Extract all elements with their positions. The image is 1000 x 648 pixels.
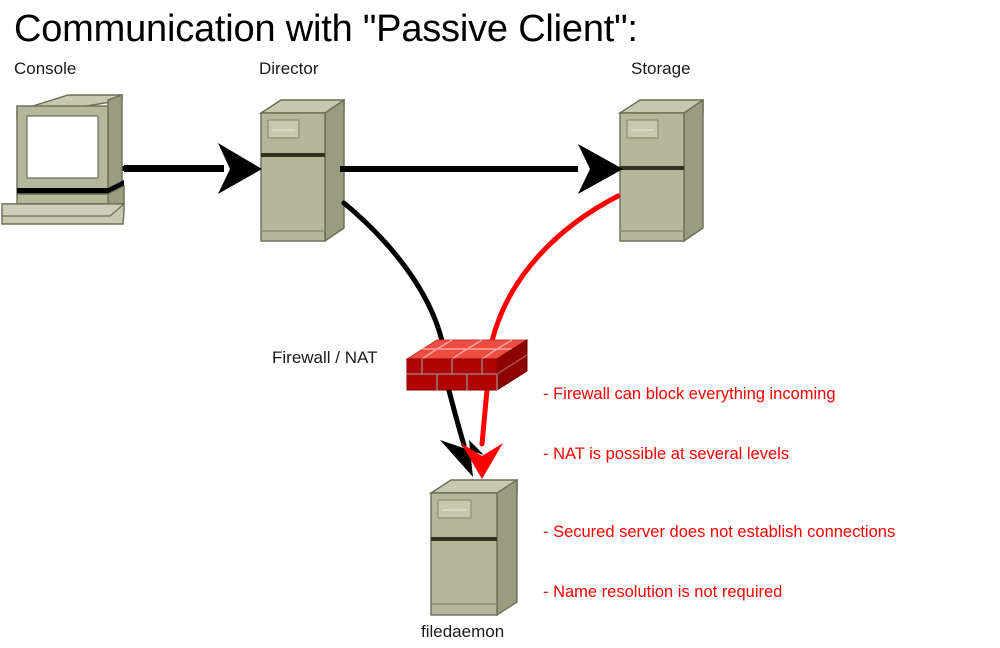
node-label-console: Console — [14, 59, 76, 79]
filedaemon-divider — [431, 537, 497, 541]
firewall-notes: - Firewall can block everything incoming… — [543, 347, 836, 486]
server-tower-icon-storage — [620, 100, 703, 241]
connection-director-to-storage — [340, 144, 623, 194]
desktop-computer-icon — [2, 95, 130, 224]
filedaemon-side-face — [497, 480, 517, 615]
keyboard-top — [2, 204, 124, 216]
director-storage-line — [340, 166, 578, 172]
monitor-side-face — [108, 95, 122, 193]
storage-side-face — [684, 100, 703, 241]
page-title: Communication with "Passive Client": — [14, 8, 638, 52]
firewall-note-line-1: - Firewall can block everything incoming — [543, 385, 836, 404]
server-tower-icon-director — [261, 100, 344, 241]
storage-drive-bay — [627, 120, 658, 138]
console-director-arrowhead — [218, 143, 262, 194]
node-label-storage: Storage — [631, 59, 691, 79]
secured-server-notes: - Secured server does not establish conn… — [543, 485, 895, 624]
console-director-line — [124, 165, 224, 172]
filedaemon-drive-bay — [438, 500, 471, 518]
director-drive-bay — [268, 120, 299, 138]
secured-note-line-2: - Name resolution is not required — [543, 583, 895, 602]
brick-wall-icon — [407, 340, 527, 390]
node-label-director: Director — [259, 59, 319, 79]
node-label-firewall: Firewall / NAT — [272, 348, 377, 368]
director-filedaemon-curve-upper — [344, 203, 442, 341]
storage-filedaemon-curve-upper — [492, 196, 618, 341]
secured-note-line-1: - Secured server does not establish conn… — [543, 523, 895, 542]
storage-divider — [620, 166, 684, 170]
server-tower-icon-filedaemon — [431, 480, 517, 615]
node-label-filedaemon: filedaemon — [421, 622, 504, 642]
connection-console-to-director — [124, 143, 262, 194]
monitor-screen — [27, 116, 98, 178]
director-storage-arrowhead — [578, 144, 623, 194]
firewall-note-line-2: - NAT is possible at several levels — [543, 445, 836, 464]
director-divider — [261, 153, 325, 157]
